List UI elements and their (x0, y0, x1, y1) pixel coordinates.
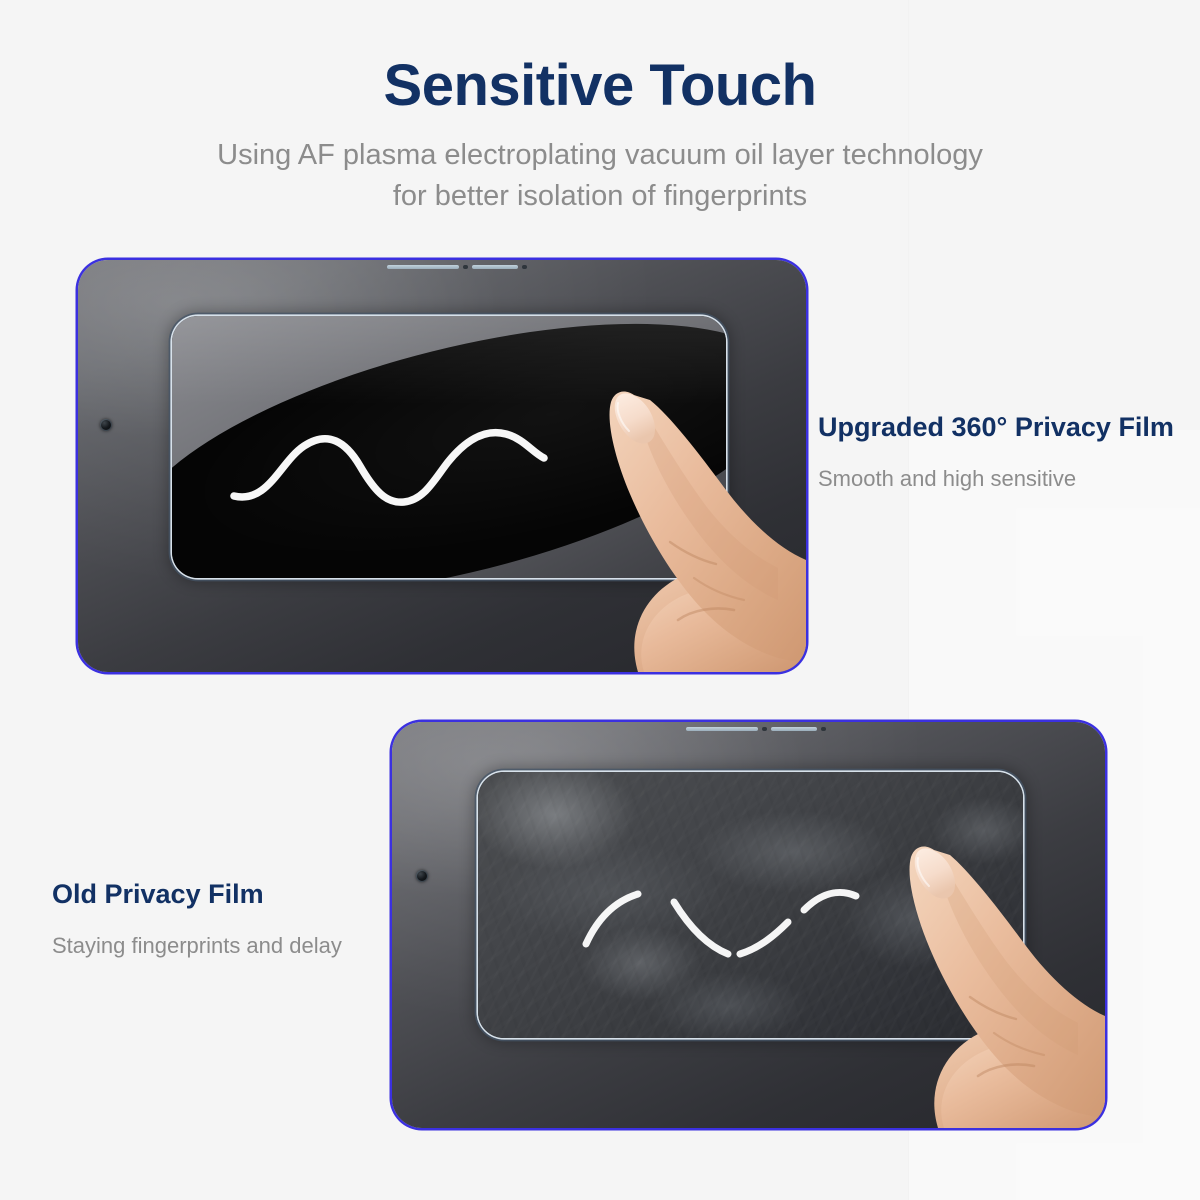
page-subtitle: Using AF plasma electroplating vacuum oi… (0, 117, 1200, 217)
front-camera-icon (416, 870, 428, 882)
header: Sensitive Touch Using AF plasma electrop… (0, 0, 1200, 217)
callout-upgraded-privacy-film: Upgraded 360° Privacy Film Smooth and hi… (818, 411, 1174, 493)
phone-screen-top (172, 316, 726, 578)
callout-old-privacy-film: Old Privacy Film Staying fingerprints an… (52, 878, 342, 960)
speaker-slot-long (387, 265, 459, 269)
sensor-dot (762, 727, 767, 731)
sensor-dot (821, 727, 826, 731)
page-subtitle-line-2: for better isolation of fingerprints (0, 176, 1200, 217)
sensor-dot (522, 265, 527, 269)
callout-old-heading: Old Privacy Film (52, 878, 342, 912)
callout-upgraded-subtext: Smooth and high sensitive (818, 445, 1174, 494)
phone-screen-bottom (478, 772, 1023, 1038)
old-film-panel (392, 722, 1105, 1128)
fingerprint-smudge-texture (478, 772, 1023, 1038)
speaker-slot-mid (771, 727, 817, 731)
top-bezel-slots-top-phone (387, 265, 527, 269)
page-subtitle-line-1: Using AF plasma electroplating vacuum oi… (0, 135, 1200, 176)
upgraded-film-panel (78, 260, 806, 672)
front-camera-icon (100, 419, 112, 431)
screen-smudged-surface (478, 772, 1023, 1038)
page-title: Sensitive Touch (0, 0, 1200, 117)
callout-old-subtext: Staying fingerprints and delay (52, 912, 342, 961)
product-feature-slide: Sensitive Touch Using AF plasma electrop… (0, 0, 1200, 1200)
speaker-slot-long (686, 727, 758, 731)
top-bezel-slots-bottom-phone (686, 727, 826, 731)
callout-upgraded-heading: Upgraded 360° Privacy Film (818, 411, 1174, 445)
screen-clean-surface (172, 316, 726, 578)
speaker-slot-mid (472, 265, 518, 269)
screen-leaf-highlight (172, 316, 726, 578)
sensor-dot (463, 265, 468, 269)
